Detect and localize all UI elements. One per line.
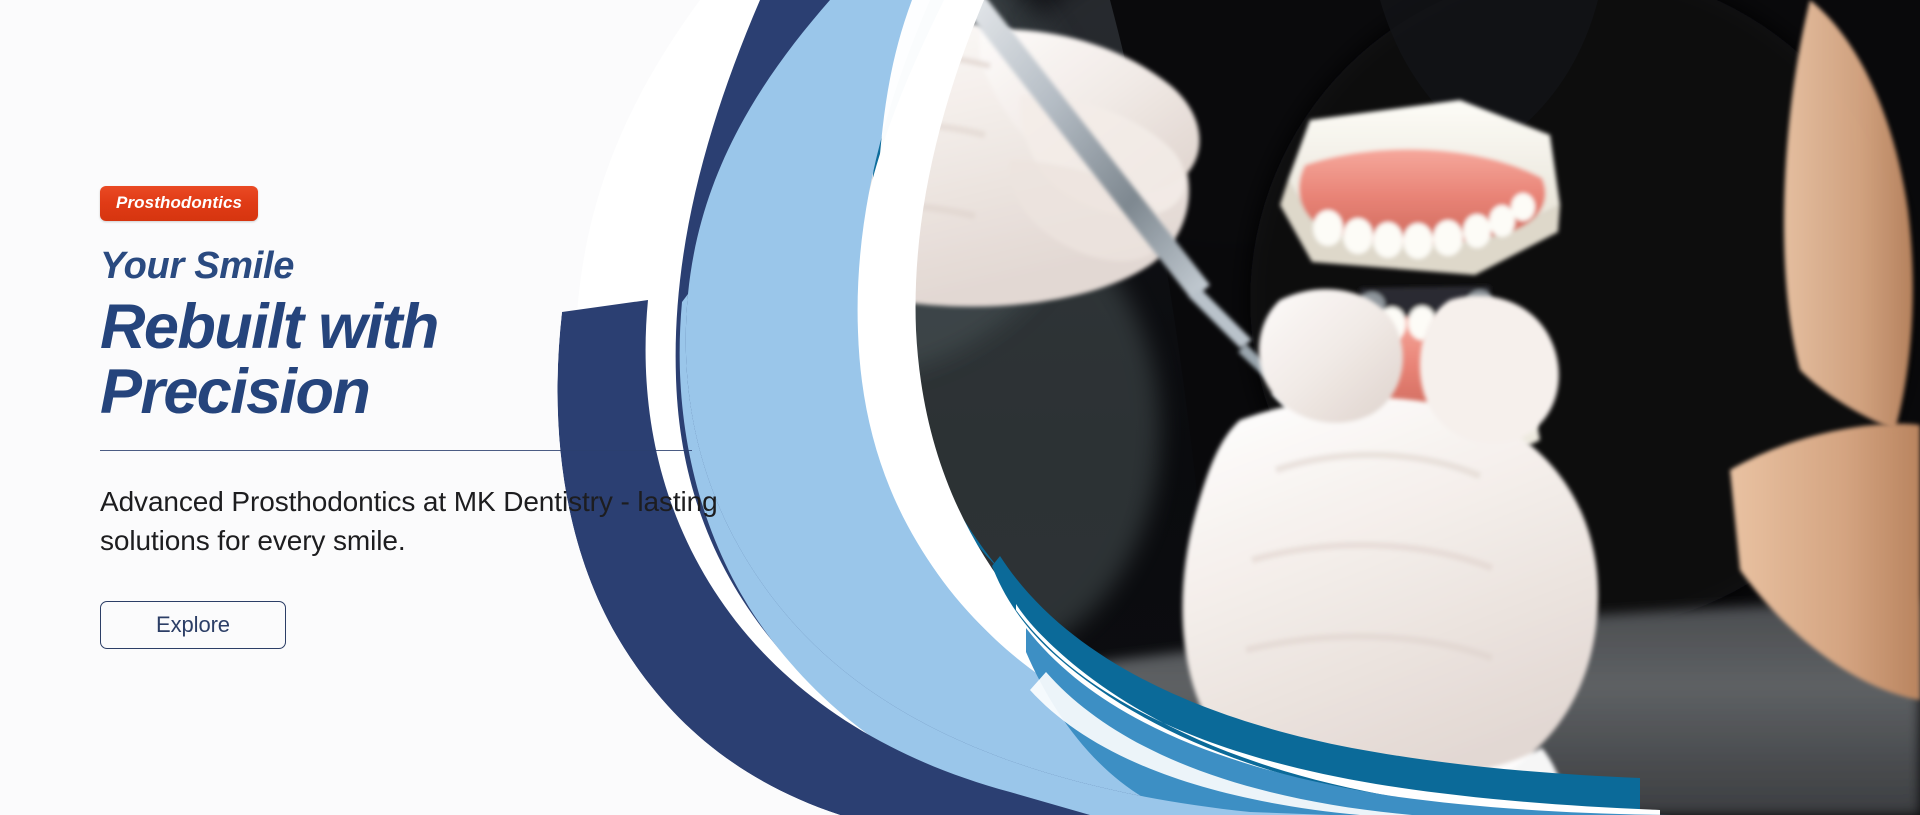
- page-title-line-1: Your Smile: [100, 247, 720, 287]
- prosthodontics-hero-banner: Prosthodontics Your Smile Rebuilt with P…: [0, 0, 1920, 815]
- hero-description: Advanced Prosthodontics at MK Dentistry …: [100, 483, 720, 559]
- dental-model-photo: [680, 0, 1920, 815]
- page-title-line-2: Rebuilt with Precision: [100, 295, 720, 426]
- category-badge: Prosthodontics: [100, 186, 258, 221]
- hero-content: Prosthodontics Your Smile Rebuilt with P…: [100, 186, 720, 649]
- title-divider: [100, 450, 692, 452]
- explore-button[interactable]: Explore: [100, 601, 286, 649]
